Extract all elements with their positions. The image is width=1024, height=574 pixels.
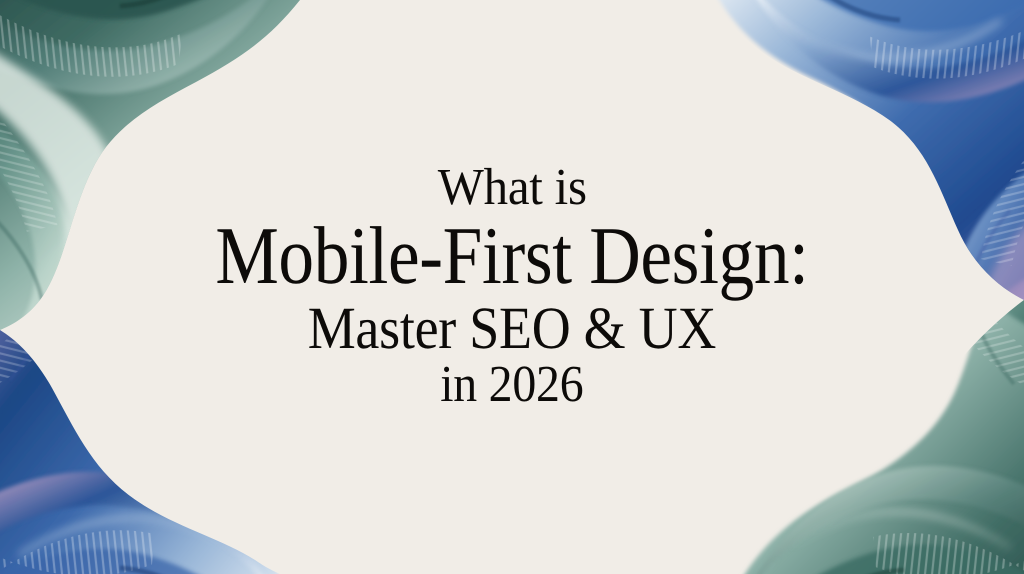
headline-line-1: What is xyxy=(438,163,587,214)
headline-block: What is Mobile-First Design: Master SEO … xyxy=(0,0,1024,574)
headline-line-2: Mobile-First Design: xyxy=(215,215,808,297)
headline-line-3: Master SEO & UX xyxy=(308,298,716,358)
headline-line-4: in 2026 xyxy=(440,359,583,411)
title-card-canvas: What is Mobile-First Design: Master SEO … xyxy=(0,0,1024,574)
